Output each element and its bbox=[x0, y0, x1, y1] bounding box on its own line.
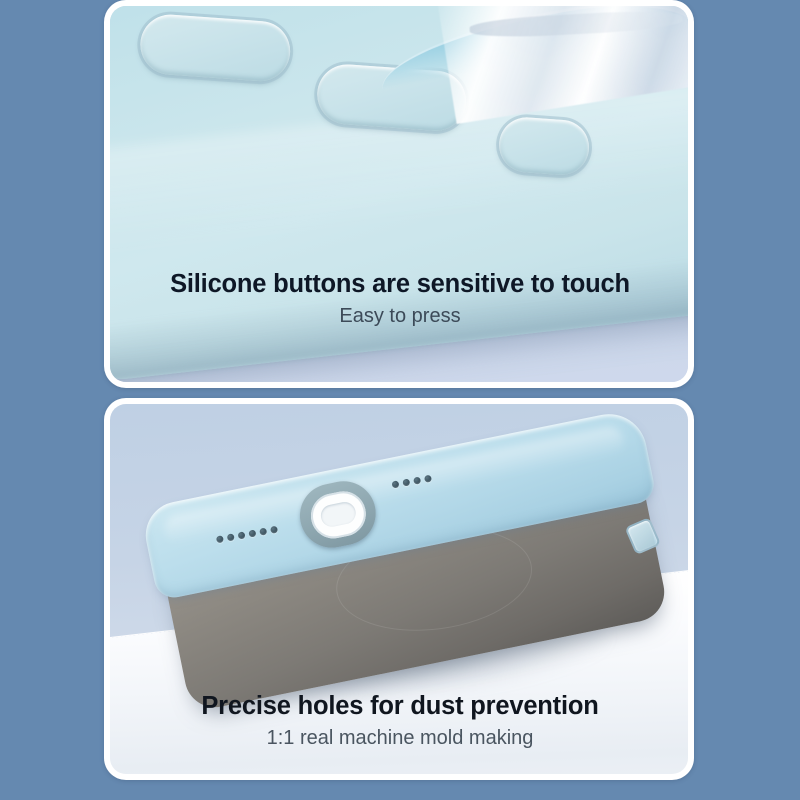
speaker-hole bbox=[270, 525, 278, 533]
charging-port-inner bbox=[307, 487, 370, 542]
speaker-hole bbox=[237, 531, 245, 539]
silicone-button-power bbox=[497, 115, 591, 176]
speaker-hole bbox=[391, 480, 399, 488]
charging-port-slot bbox=[319, 500, 358, 528]
speaker-hole bbox=[413, 476, 421, 484]
caption-subtitle-silicone-buttons: Easy to press bbox=[0, 305, 800, 328]
product-feature-collage: Silicone buttons are sensitive to touch … bbox=[0, 0, 800, 800]
speaker-hole bbox=[248, 529, 256, 537]
speaker-hole bbox=[424, 474, 432, 482]
speaker-hole bbox=[259, 527, 267, 535]
speaker-hole bbox=[402, 478, 410, 486]
silicone-button-volume-up bbox=[138, 13, 292, 84]
speaker-hole bbox=[227, 533, 235, 541]
caption-precise-holes: Precise holes for dust prevention 1:1 re… bbox=[0, 692, 800, 750]
panel-silicone-buttons bbox=[104, 0, 694, 388]
caption-title-silicone-buttons: Silicone buttons are sensitive to touch bbox=[0, 270, 800, 299]
caption-silicone-buttons: Silicone buttons are sensitive to touch … bbox=[0, 270, 800, 328]
speaker-hole bbox=[216, 535, 224, 543]
caption-subtitle-precise-holes: 1:1 real machine mold making bbox=[0, 727, 800, 750]
caption-title-precise-holes: Precise holes for dust prevention bbox=[0, 692, 800, 721]
